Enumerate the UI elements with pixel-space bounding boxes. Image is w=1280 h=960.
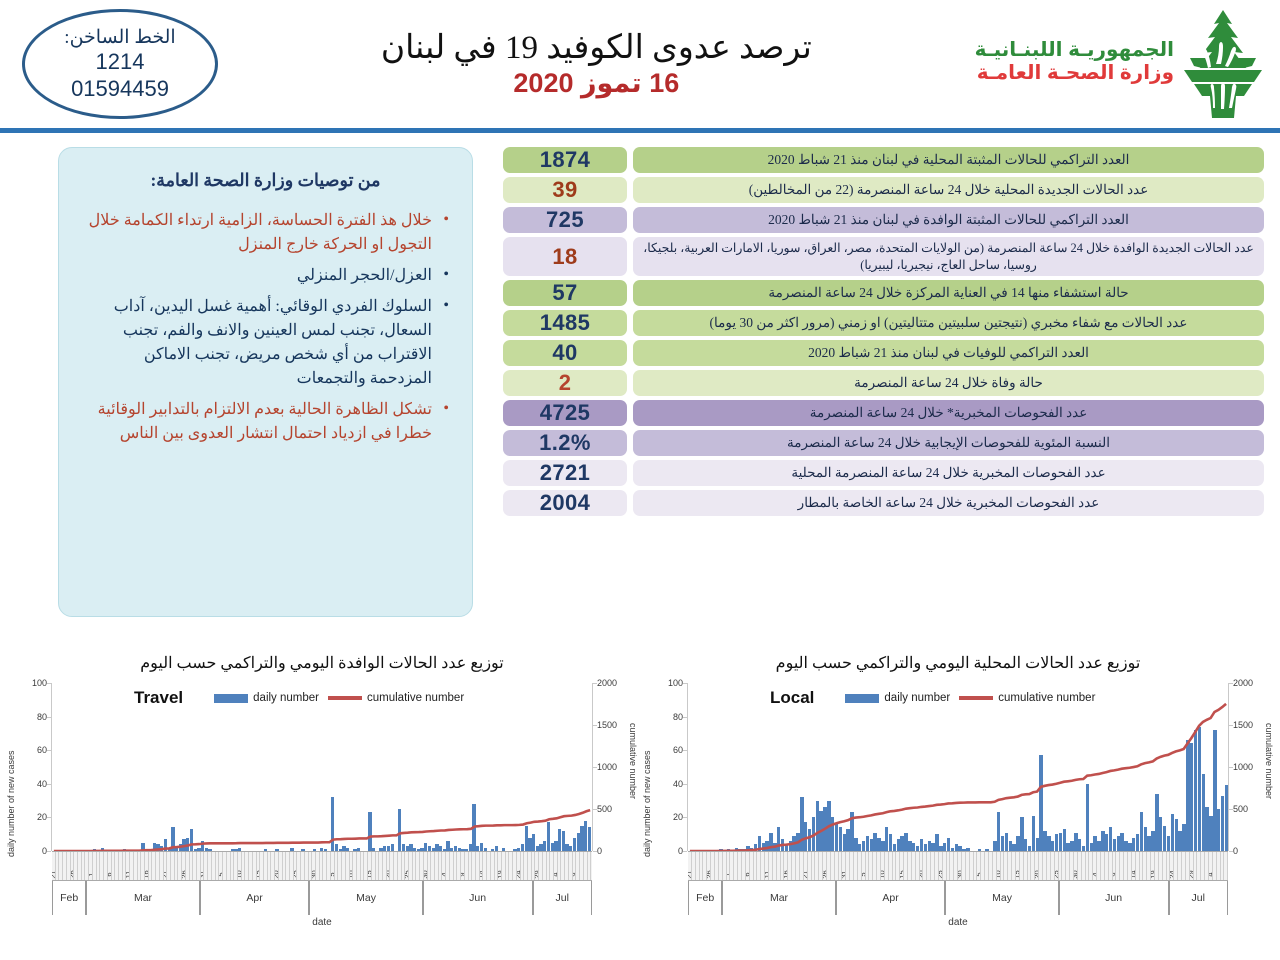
stat-label: العدد التراكمي للوفيات في لبنان منذ 21 ش…: [633, 340, 1264, 366]
cedar-tree-icon: [1180, 8, 1266, 120]
month-label: Mar: [722, 881, 835, 915]
month-label: May: [945, 881, 1058, 915]
page-header: الجمهوريـة اللبنـانيـة وزارة الصحـة العا…: [0, 0, 1280, 133]
x-axis: 2126161116212631510152025305101520253049…: [52, 851, 592, 928]
recommendation-item: خلال هذ الفترة الحساسة، الزامية ارتداء ا…: [79, 209, 432, 257]
stat-value: 39: [503, 177, 627, 203]
y2-tick-label: 1500: [1233, 720, 1253, 730]
month-label: Apr: [200, 881, 310, 915]
logo-republic-line: الجمهوريـة اللبنـانيـة: [975, 39, 1174, 62]
cumulative-line-series: [52, 683, 592, 851]
stat-label: عدد الفحوصات المخبرية خلال 24 ساعة المنص…: [633, 460, 1264, 486]
day-tick: [1224, 852, 1228, 880]
y-tick-label: 100: [32, 678, 47, 688]
report-date: 16 تموز 2020: [228, 69, 965, 99]
stat-value: 18: [503, 237, 627, 276]
y-tick-label: 40: [37, 779, 47, 789]
y2-tick-label: 1000: [1233, 762, 1253, 772]
x-axis: 2126161116212631510152025305101520253049…: [688, 851, 1228, 928]
stat-row: عدد الحالات الجديدة الوافدة خلال 24 ساعة…: [503, 237, 1264, 276]
x-axis-month-labels: FebMarAprMayJunJul: [688, 881, 1228, 915]
recommendation-item: السلوك الفردي الوقائي: أهمية غسل اليدين،…: [79, 295, 432, 391]
stat-value: 40: [503, 340, 627, 366]
legend-swatch: [959, 696, 993, 700]
statistics-table: العدد التراكمي للحالات المثبتة المحلية ف…: [503, 147, 1268, 653]
month-label: Feb: [688, 881, 722, 915]
stat-label: العدد التراكمي للحالات المثبتة المحلية ف…: [633, 147, 1264, 173]
hotline-label: الخط الساخن:: [64, 26, 175, 49]
stat-label: حالة وفاة خلال 24 ساعة المنصرمة: [633, 370, 1264, 396]
y-axis-title: daily number of new cases: [6, 697, 16, 857]
month-label: Apr: [836, 881, 946, 915]
y2-tick-label: 1500: [597, 720, 617, 730]
chart-plot-container: daily number of new casescumulative numb…: [640, 683, 1276, 928]
stat-row: عدد الفحوصات المخبرية خلال 24 ساعة المنص…: [503, 460, 1264, 486]
y-axis-ticks: 020406080100: [20, 683, 50, 851]
chart-plot-container: daily number of new casescumulative numb…: [4, 683, 640, 928]
chart-title: Travel: [134, 688, 183, 708]
dashboard-body: العدد التراكمي للحالات المثبتة المحلية ف…: [0, 133, 1280, 653]
chart-legend: Traveldaily numbercumulative number: [134, 688, 464, 708]
stat-value: 725: [503, 207, 627, 233]
chart-caption: توزيع عدد الحالات الوافدة اليومي والتراك…: [4, 653, 640, 673]
stat-label: عدد الحالات الجديدة الوافدة خلال 24 ساعة…: [633, 237, 1264, 276]
x-axis-month-labels: FebMarAprMayJunJul: [52, 881, 592, 915]
y2-tick-label: 500: [597, 804, 612, 814]
y2-axis-line: [1228, 683, 1229, 851]
y2-axis-line: [592, 683, 593, 851]
stat-row: العدد التراكمي للوفيات في لبنان منذ 21 ش…: [503, 340, 1264, 366]
travel-cases-chart-panel: توزيع عدد الحالات الوافدة اليومي والتراك…: [4, 653, 640, 928]
y-tick-label: 40: [673, 779, 683, 789]
stat-label: عدد الحالات الجديدة المحلية خلال 24 ساعة…: [633, 177, 1264, 203]
legend-label: daily number: [884, 692, 950, 704]
month-label: Jul: [1169, 881, 1228, 915]
logo-ministry-line: وزارة الصحـة العامـة: [975, 62, 1174, 85]
y2-tick-label: 0: [597, 846, 602, 856]
legend-item: cumulative number: [328, 692, 464, 704]
plot-area: [688, 683, 1228, 851]
stat-row: عدد الفحوصات المخبرية* خلال 24 ساعة المن…: [503, 400, 1264, 426]
y2-axis-title: cumulative number: [1264, 723, 1274, 873]
x-axis-title: date: [688, 917, 1228, 928]
stat-label: عدد الفحوصات المخبرية خلال 24 ساعة الخاص…: [633, 490, 1264, 516]
hotline-badge: الخط الساخن: 1214 01594459: [22, 9, 218, 119]
y-tick-label: 20: [37, 812, 47, 822]
x-axis-day-ticks: 2126161116212631510152025305101520253049…: [52, 851, 592, 881]
hotline-number-1: 1214: [96, 49, 145, 76]
month-label: Jun: [1059, 881, 1169, 915]
stat-row: العدد التراكمي للحالات المثبتة الوافدة ف…: [503, 207, 1264, 233]
stat-row: حالة استشفاء منها 14 في العناية المركزة …: [503, 280, 1264, 306]
legend-item: daily number: [214, 692, 319, 704]
stat-value: 1.2%: [503, 430, 627, 456]
stat-row: العدد التراكمي للحالات المثبتة المحلية ف…: [503, 147, 1264, 173]
y-tick-label: 60: [37, 745, 47, 755]
chart-title: Local: [770, 688, 814, 708]
ministry-logo: الجمهوريـة اللبنـانيـة وزارة الصحـة العا…: [975, 8, 1266, 120]
stat-row: عدد الحالات الجديدة المحلية خلال 24 ساعة…: [503, 177, 1264, 203]
legend-item: cumulative number: [959, 692, 1095, 704]
stat-row: النسبة المئوية للفحوصات الإيجابية خلال 2…: [503, 430, 1264, 456]
stat-value: 2004: [503, 490, 627, 516]
y-tick-label: 80: [37, 712, 47, 722]
day-tick: [588, 852, 592, 880]
recommendation-item: العزل/الحجر المنزلي: [79, 264, 432, 288]
chart-caption: توزيع عدد الحالات المحلية اليومي والتراك…: [640, 653, 1276, 673]
stat-value: 1874: [503, 147, 627, 173]
month-label: Feb: [52, 881, 86, 915]
y2-tick-label: 2000: [1233, 678, 1253, 688]
y-tick-label: 60: [673, 745, 683, 755]
stat-label: عدد الحالات مع شفاء مخبري (نتيجتين سلبيت…: [633, 310, 1264, 336]
month-label: May: [309, 881, 422, 915]
recommendations-title: من توصيات وزارة الصحة العامة:: [79, 170, 452, 191]
stat-row: عدد الفحوصات المخبرية خلال 24 ساعة الخاص…: [503, 490, 1264, 516]
local-cases-chart-panel: توزيع عدد الحالات المحلية اليومي والتراك…: [640, 653, 1276, 928]
legend-swatch: [214, 694, 248, 703]
y2-axis-ticks: 0500100015002000: [594, 683, 624, 851]
chart-legend: Localdaily numbercumulative number: [770, 688, 1095, 708]
legend-item: daily number: [845, 692, 950, 704]
y2-tick-label: 500: [1233, 804, 1248, 814]
recommendations-panel: من توصيات وزارة الصحة العامة: خلال هذ ال…: [58, 147, 473, 617]
y2-tick-label: 1000: [597, 762, 617, 772]
stat-value: 1485: [503, 310, 627, 336]
legend-label: cumulative number: [998, 692, 1095, 704]
hotline-number-2: 01594459: [71, 76, 169, 103]
recommendations-list: خلال هذ الفترة الحساسة، الزامية ارتداء ا…: [79, 209, 452, 446]
legend-swatch: [845, 694, 879, 703]
y-axis-title: daily number of new cases: [642, 697, 652, 857]
title-block: ترصد عدوى الكوفيد 19 في لبنان 16 تموز 20…: [218, 30, 975, 99]
y-axis-ticks: 020406080100: [656, 683, 686, 851]
legend-label: daily number: [253, 692, 319, 704]
y2-tick-label: 0: [1233, 846, 1238, 856]
stat-label: النسبة المئوية للفحوصات الإيجابية خلال 2…: [633, 430, 1264, 456]
stat-row: حالة وفاة خلال 24 ساعة المنصرمة2: [503, 370, 1264, 396]
y-tick-label: 80: [673, 712, 683, 722]
y2-axis-title: cumulative number: [628, 723, 638, 873]
stat-row: عدد الحالات مع شفاء مخبري (نتيجتين سلبيت…: [503, 310, 1264, 336]
stat-value: 2: [503, 370, 627, 396]
month-label: Jul: [533, 881, 592, 915]
y2-tick-label: 2000: [597, 678, 617, 688]
stat-value: 57: [503, 280, 627, 306]
legend-label: cumulative number: [367, 692, 464, 704]
stat-label: العدد التراكمي للحالات المثبتة الوافدة ف…: [633, 207, 1264, 233]
stat-label: حالة استشفاء منها 14 في العناية المركزة …: [633, 280, 1264, 306]
stat-value: 2721: [503, 460, 627, 486]
y2-axis-ticks: 0500100015002000: [1230, 683, 1260, 851]
recommendation-item: تشكل الظاهرة الحالية بعدم الالتزام بالتد…: [79, 398, 432, 446]
month-label: Mar: [86, 881, 199, 915]
legend-swatch: [328, 696, 362, 700]
page-title: ترصد عدوى الكوفيد 19 في لبنان: [228, 30, 965, 67]
y-tick-label: 20: [673, 812, 683, 822]
y-tick-label: 100: [668, 678, 683, 688]
stat-label: عدد الفحوصات المخبرية* خلال 24 ساعة المن…: [633, 400, 1264, 426]
stat-value: 4725: [503, 400, 627, 426]
charts-area: توزيع عدد الحالات المحلية اليومي والتراك…: [0, 653, 1280, 928]
x-axis-day-ticks: 2126161116212631510152025305101520253049…: [688, 851, 1228, 881]
month-label: Jun: [423, 881, 533, 915]
cumulative-line-series: [688, 683, 1228, 851]
plot-area: [52, 683, 592, 851]
x-axis-title: date: [52, 917, 592, 928]
